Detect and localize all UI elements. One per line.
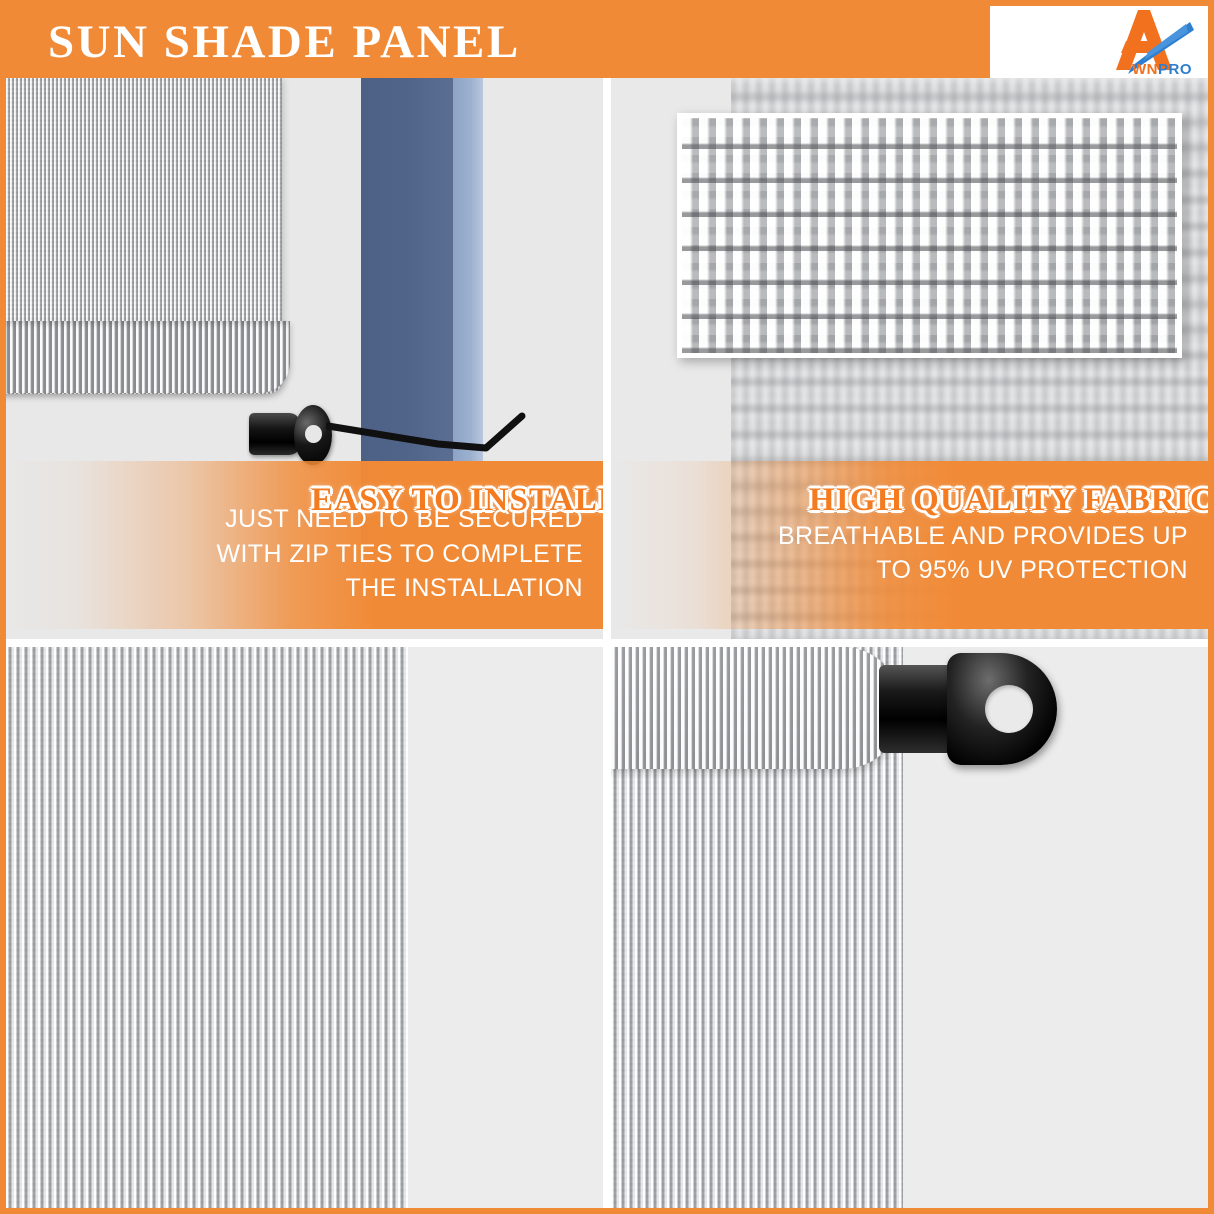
fabric-hem xyxy=(6,321,290,393)
panel2-headline: HIGH QUALITY FABRICS xyxy=(809,482,1208,519)
panel-copper-grommets: COPPER GROMMETS SOLID AND RUST PROOF USE… xyxy=(6,647,603,1208)
zip-tie-icon xyxy=(326,398,546,468)
pole-rounded-top xyxy=(611,647,903,769)
caption-line: WITH ZIP TIES TO COMPLETE xyxy=(216,537,583,572)
logo-wordmark-pro: PRO xyxy=(1158,61,1192,78)
caption-line: TO 95% UV PROTECTION xyxy=(876,553,1188,588)
caption-line: THE INSTALLATION xyxy=(346,571,583,606)
panel-reinforced-design: REINFORCED DESIGN EACH END OF THE WEIGHT… xyxy=(611,647,1208,1208)
fabric-macro-photo-frame xyxy=(677,113,1182,358)
reinforcement-fitting-icon xyxy=(947,653,1057,765)
page-inner: SUN SHADE PANEL WNPRO xyxy=(6,6,1208,1208)
header: SUN SHADE PANEL WNPRO xyxy=(6,6,1208,78)
fabric-weave-macro xyxy=(682,118,1177,353)
feature-panel-grid: EASY TO INSTALL JUST NEED TO BE SECURED … xyxy=(6,78,1208,1208)
panel3-right-background xyxy=(398,647,603,1208)
caption-line: BREATHABLE AND PROVIDES UP xyxy=(778,519,1188,554)
grommet-fabric-image xyxy=(6,647,408,1208)
page-title: SUN SHADE PANEL xyxy=(48,19,521,66)
logo-wordmark-wn: WN xyxy=(1132,61,1158,78)
header-title-banner: SUN SHADE PANEL xyxy=(6,6,990,78)
infographic-page: SUN SHADE PANEL WNPRO xyxy=(0,0,1214,1214)
panel-high-quality-fabrics: HIGH QUALITY FABRICS BREATHABLE AND PROV… xyxy=(611,78,1208,639)
panel-easy-to-install: EASY TO INSTALL JUST NEED TO BE SECURED … xyxy=(6,78,603,639)
panel1-headline: EASY TO INSTALL xyxy=(311,482,603,519)
brand-logo-area: WNPRO xyxy=(990,6,1208,78)
wnpro-logo: WNPRO xyxy=(1098,8,1194,76)
logo-wordmark: WNPRO xyxy=(1098,62,1192,77)
